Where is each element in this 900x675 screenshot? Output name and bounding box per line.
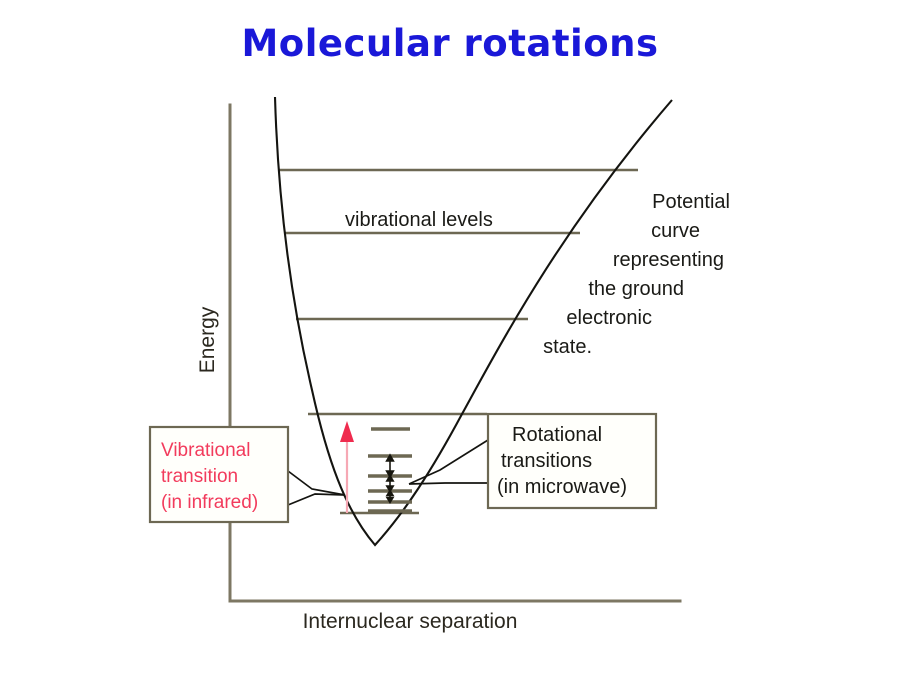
vibrational-transition-arrowhead	[340, 421, 354, 442]
axis-lines	[230, 105, 680, 601]
rotational-transitions-callout[interactable]: Rotational transitions (in microwave)	[488, 414, 656, 508]
rotational-transition-arrow-1	[387, 455, 394, 477]
potential-curve-note-line-6: state.	[543, 336, 592, 358]
potential-curve-note-line-4: the ground	[588, 278, 684, 300]
vibrational-transition-callout[interactable]: Vibrational transition (in infrared)	[150, 427, 288, 522]
potential-curve-note-line-2: curve	[651, 220, 700, 242]
x-axis-label: Internuclear separation	[303, 610, 518, 633]
y-axis-label: Energy	[196, 306, 219, 373]
vibrational-callout-line-2: transition	[161, 466, 238, 487]
potential-curve-note-line-3: representing	[613, 249, 724, 271]
potential-curve-note: Potential curve representing the ground …	[543, 191, 730, 358]
vibrational-transition-arrow	[340, 421, 354, 513]
rotational-callout-line-3: (in microwave)	[497, 476, 627, 498]
rotational-callout-line-2: transitions	[501, 450, 592, 472]
vibrational-callout-line-1: Vibrational	[161, 440, 250, 461]
rotational-callout-line-1: Rotational	[512, 424, 602, 446]
potential-curve-note-line-5: electronic	[566, 307, 652, 329]
vibrational-levels-label: vibrational levels	[345, 209, 493, 231]
axes-group: Energy Internuclear separation	[196, 105, 680, 633]
slide-canvas: Molecular rotations Energy Internuclear …	[0, 0, 900, 675]
rotational-transition-arrows	[387, 455, 394, 503]
potential-curve-note-line-1: Potential	[652, 191, 730, 213]
potential-energy-diagram: Energy Internuclear separation vibration…	[0, 0, 900, 675]
rotational-callout-pointers	[409, 440, 488, 484]
vibrational-callout-line-3: (in infrared)	[161, 492, 258, 513]
